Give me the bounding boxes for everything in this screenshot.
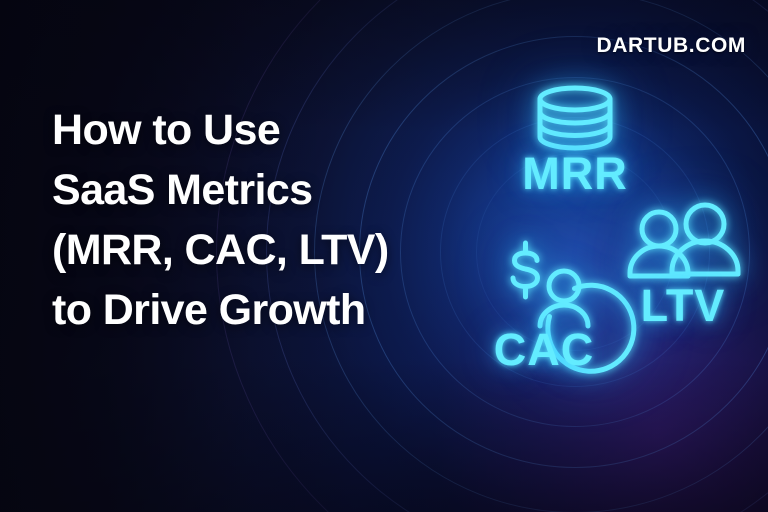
cover-image-canvas: DARTUB.COM How to Use SaaS Metrics (MRR,… <box>0 0 768 512</box>
title-line-3: (MRR, CAC, LTV) <box>52 220 432 280</box>
metric-label-mrr: MRR <box>492 148 658 200</box>
metric-group-ltv: LTV <box>614 206 752 342</box>
two-people-group-icon <box>626 206 738 280</box>
title-line-4: to Drive Growth <box>52 280 432 340</box>
metric-group-cac: CAC <box>458 228 630 368</box>
dollar-circle-person-icon <box>476 228 594 328</box>
page-title: How to Use SaaS Metrics (MRR, CAC, LTV) … <box>52 100 432 340</box>
database-stack-icon <box>536 86 614 150</box>
metric-label-cac: CAC <box>458 324 630 376</box>
metric-label-ltv: LTV <box>614 280 752 332</box>
title-line-2: SaaS Metrics <box>52 160 432 220</box>
site-logo-text: DARTUB.COM <box>597 34 746 58</box>
title-line-1: How to Use <box>52 100 432 160</box>
metric-group-mrr: MRR <box>492 86 658 208</box>
